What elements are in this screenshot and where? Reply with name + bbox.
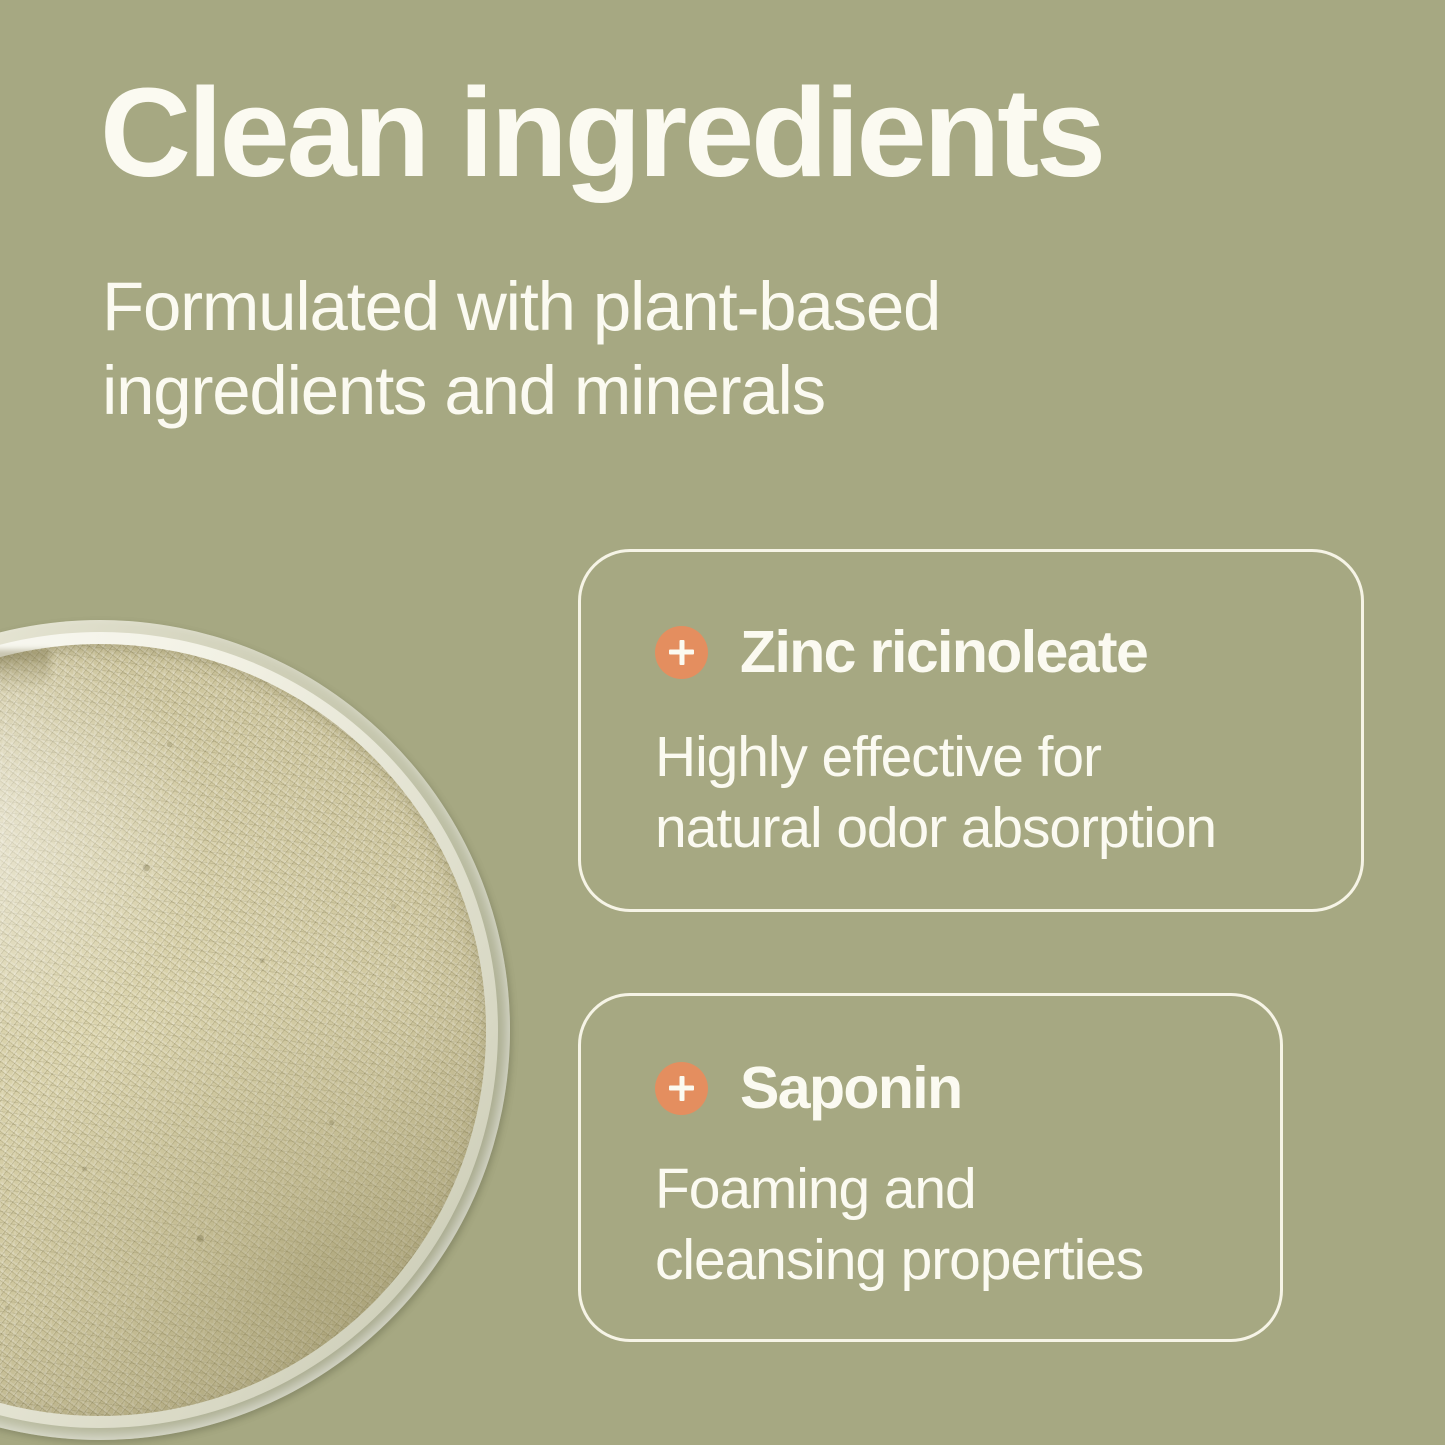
ingredient-title: Saponin: [740, 1054, 962, 1122]
ingredient-description-line-2: cleansing properties: [655, 1225, 1285, 1296]
plus-icon: [655, 1062, 708, 1115]
page-subtitle-line-2: ingredients and minerals: [102, 349, 1092, 433]
powder-speckle-texture: [0, 644, 486, 1416]
powder-surface: [0, 644, 486, 1416]
ingredient-description: Highly effective for natural odor absorp…: [655, 722, 1355, 865]
ingredient-title: Zinc ricinoleate: [740, 618, 1147, 686]
ingredient-card-header: Saponin: [655, 1054, 962, 1122]
ingredient-card-saponin[interactable]: Saponin Foaming and cleansing properties: [578, 993, 1283, 1342]
ingredient-description-line-1: Highly effective for: [655, 722, 1355, 793]
page-subtitle: Formulated with plant-based ingredients …: [102, 265, 1092, 433]
ingredient-description-line-1: Foaming and: [655, 1154, 1285, 1225]
page-title: Clean ingredients: [100, 68, 1240, 198]
powder-dish-image: [0, 620, 510, 1445]
powder-notch-shadow: [0, 650, 50, 692]
ingredient-description: Foaming and cleansing properties: [655, 1154, 1285, 1297]
page-subtitle-line-1: Formulated with plant-based: [102, 265, 1092, 349]
dish-glass-body: [0, 620, 510, 1440]
powder-edge-shading: [0, 644, 486, 1416]
dish-rim: [0, 632, 498, 1428]
ingredient-card-zinc-ricinoleate[interactable]: Zinc ricinoleate Highly effective for na…: [578, 549, 1364, 912]
ingredient-card-header: Zinc ricinoleate: [655, 618, 1147, 686]
plus-icon: [655, 626, 708, 679]
ingredient-description-line-2: natural odor absorption: [655, 793, 1355, 864]
product-infographic: Clean ingredients Formulated with plant-…: [0, 0, 1445, 1445]
